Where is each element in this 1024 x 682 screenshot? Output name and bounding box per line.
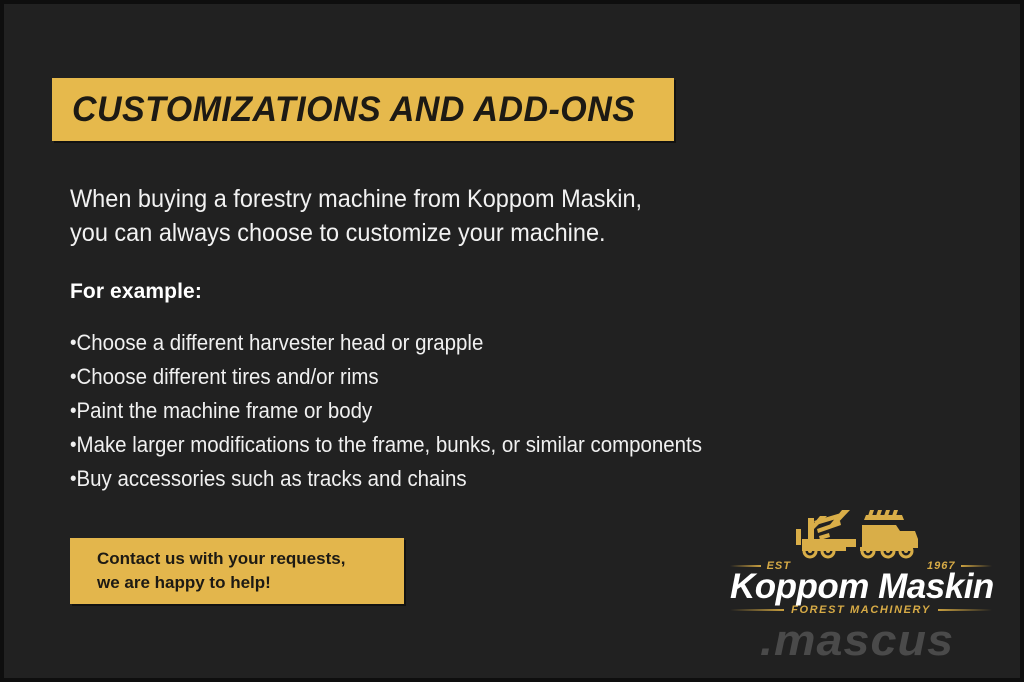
list-item: •Paint the machine frame or body: [70, 394, 777, 428]
cta-line-1: Contact us with your requests,: [97, 547, 404, 571]
for-example-label: For example:: [70, 280, 202, 304]
list-item: •Choose different tires and/or rims: [70, 360, 777, 394]
logo-tagline: FOREST MACHINERY: [791, 604, 931, 616]
intro-line-1: When buying a forestry machine from Kopp…: [70, 182, 728, 216]
koppom-maskin-logo: EST 1967 Koppom Maskin FOREST MACHINERY: [730, 507, 992, 609]
logo-tagline-row: FOREST MACHINERY: [730, 604, 992, 616]
cta-line-2: we are happy to help!: [97, 571, 404, 595]
logo-tagline-rule-left: [730, 609, 784, 611]
forestry-forwarder-icon: [784, 507, 934, 559]
intro-line-2: you can always choose to customize your …: [70, 216, 728, 250]
list-item: •Choose a different harvester head or gr…: [70, 326, 777, 360]
list-item-label: Buy accessories such as tracks and chain…: [77, 462, 467, 496]
page-title: CUSTOMIZATIONS AND ADD-ONS: [72, 90, 635, 130]
intro-paragraph: When buying a forestry machine from Kopp…: [70, 182, 770, 250]
list-item-label: Choose different tires and/or rims: [77, 360, 379, 394]
list-item: •Make larger modifications to the frame,…: [70, 428, 777, 462]
title-banner: CUSTOMIZATIONS AND ADD-ONS: [52, 78, 674, 141]
list-item-label: Choose a different harvester head or gra…: [77, 326, 484, 360]
logo-company-name: Koppom Maskin: [730, 567, 992, 607]
logo-tagline-rule-right: [938, 609, 992, 611]
mascus-watermark: .mascus: [760, 616, 954, 666]
customization-options-list: •Choose a different harvester head or gr…: [70, 326, 830, 496]
list-item-label: Paint the machine frame or body: [77, 394, 373, 428]
list-item-label: Make larger modifications to the frame, …: [77, 428, 702, 462]
advert-slide: CUSTOMIZATIONS AND ADD-ONS When buying a…: [0, 0, 1024, 682]
contact-cta-box[interactable]: Contact us with your requests, we are ha…: [70, 538, 404, 604]
list-item: •Buy accessories such as tracks and chai…: [70, 462, 777, 496]
